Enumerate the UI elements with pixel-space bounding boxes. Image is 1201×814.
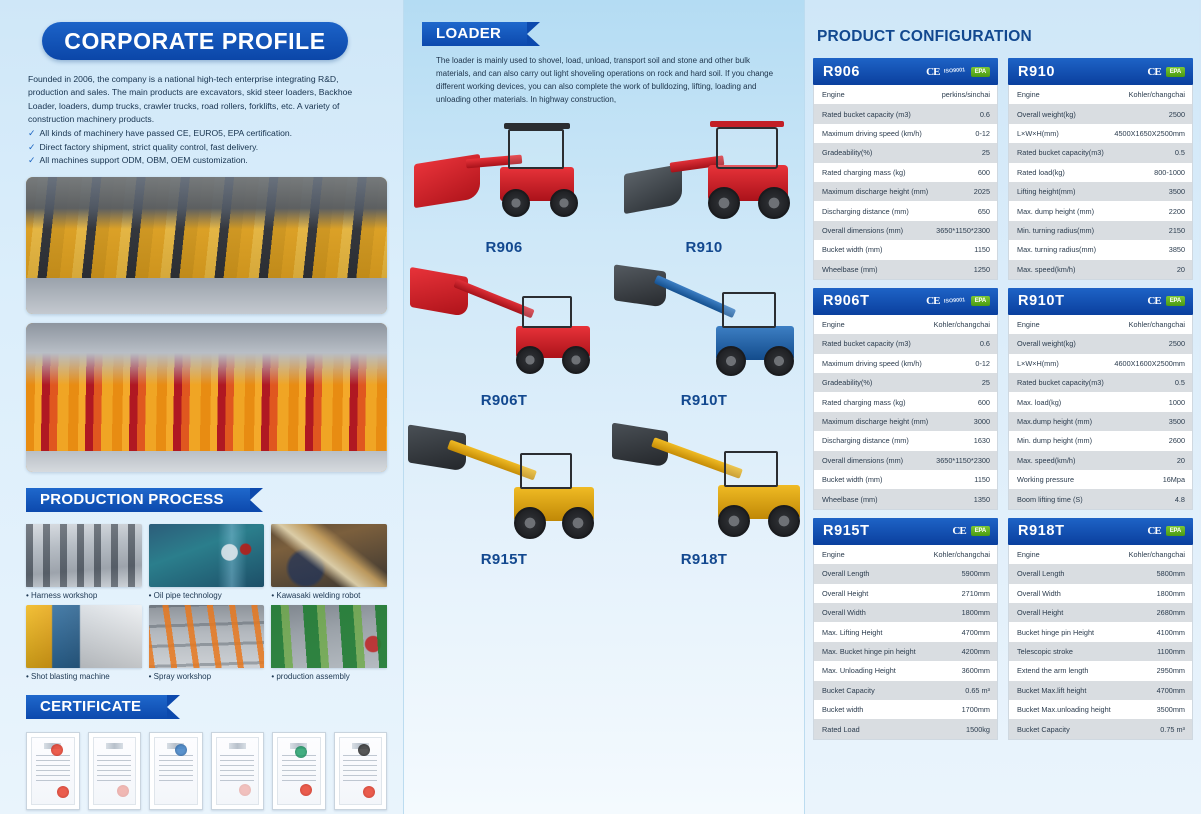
spec-row: Max. Bucket hinge pin height4200mm: [814, 642, 997, 661]
shot-blasting-machine-photo: [26, 605, 142, 668]
spec-rows: EngineKohler/changchaiOverall Length5900…: [813, 545, 998, 740]
production-item: • Harness workshop: [26, 524, 142, 600]
spec-key: Lifting height(mm): [1017, 187, 1075, 196]
loader-description: The loader is mainly used to shovel, loa…: [436, 55, 782, 107]
spec-row: Overall Height2710mm: [814, 584, 997, 603]
production-item: • Oil pipe technology: [149, 524, 265, 600]
spec-key: Max. Unloading Height: [822, 666, 896, 675]
spec-card-r910: R910CEEPAEngineKohler/changchaiOverall w…: [1008, 58, 1193, 280]
production-item: • Kawasaki welding robot: [271, 524, 387, 600]
loader-heading: LOADER: [422, 22, 804, 46]
spec-value: 3600mm: [962, 666, 990, 675]
spec-key: Max. Bucket hinge pin height: [822, 647, 916, 656]
spec-key: Maximum discharge height (mm): [822, 417, 928, 426]
spec-value: 1500kg: [966, 725, 990, 734]
spec-value: 2710mm: [962, 589, 990, 598]
spec-key: Overall dimensions (mm): [822, 226, 903, 235]
spec-value: 2950mm: [1157, 666, 1185, 675]
production-item: • Spray workshop: [149, 605, 265, 681]
spec-row: Bucket Max.lift height4700mm: [1009, 681, 1192, 700]
spec-value: Kohler/changchai: [934, 320, 990, 329]
spec-key: Max.dump height (mm): [1017, 417, 1092, 426]
spec-key: Engine: [1017, 320, 1040, 329]
spec-value: 2150: [1169, 226, 1185, 235]
spec-row: Overall Width1800mm: [814, 603, 997, 622]
spec-row: Rated bucket capacity (m3)0.6: [814, 334, 997, 353]
certification-badges: CEEPA: [1147, 295, 1185, 307]
certificate-thumb: [88, 732, 142, 810]
certificate-label: CERTIFICATE: [26, 695, 167, 719]
spec-row: L×W×H(mm)4600X1600X2500mm: [1009, 354, 1192, 373]
right-column: PRODUCT CONFIGURATION R906CEISO9001EPAEn…: [805, 0, 1199, 814]
spec-value: 0.75 m³: [1160, 725, 1185, 734]
epa-badge-icon: EPA: [971, 296, 990, 306]
spec-key: Rated bucket capacity (m3): [822, 339, 911, 348]
certification-badges: CEEPA: [1147, 66, 1185, 78]
profile-bullet: ✓ All kinds of machinery have passed CE,…: [28, 127, 381, 141]
spec-rows: Engineperkins/sinchaiRated bucket capaci…: [813, 85, 998, 280]
spec-card-r906: R906CEISO9001EPAEngineperkins/sinchaiRat…: [813, 58, 998, 280]
spec-value: 2200: [1169, 207, 1185, 216]
production-item-label: • Spray workshop: [149, 672, 265, 681]
spec-key: Gradeability(%): [822, 378, 872, 387]
spec-key: Overall weight(kg): [1017, 339, 1076, 348]
spec-key: Overall Width: [822, 608, 866, 617]
spec-value: 5900mm: [962, 569, 990, 578]
certification-badges: CEISO9001EPA: [926, 66, 990, 78]
ce-mark-icon: CE: [1147, 295, 1160, 307]
spec-value: 4500X1650X2500mm: [1114, 129, 1185, 138]
spec-key: Telescopic stroke: [1017, 647, 1073, 656]
spec-card-header: R910TCEEPA: [1008, 288, 1193, 315]
spec-value: 0.5: [1175, 378, 1185, 387]
spec-value: 20: [1177, 456, 1185, 465]
middle-column: LOADER The loader is mainly used to shov…: [403, 0, 805, 814]
spec-row: Wheelbase (mm)1350: [814, 489, 997, 508]
spec-row: Rated bucket capacity(m3)0.5: [1009, 143, 1192, 162]
profile-bullet-label: Direct factory shipment, strict quality …: [40, 141, 259, 154]
spec-value: 1800mm: [1157, 589, 1185, 598]
production-item-label: • Shot blasting machine: [26, 672, 142, 681]
spec-rows: EngineKohler/changchaiOverall Length5800…: [1008, 545, 1193, 740]
production-item: • production assembly: [271, 605, 387, 681]
production-item-label: • Kawasaki welding robot: [271, 591, 387, 600]
spec-value: 3500: [1169, 417, 1185, 426]
spec-value: 2600: [1169, 436, 1185, 445]
spec-value: 1150: [974, 475, 990, 484]
spec-row: Gradeability(%)25: [814, 373, 997, 392]
spec-key: Overall Length: [822, 569, 869, 578]
loader-illustration: [404, 113, 604, 239]
ce-mark-icon: CE: [926, 295, 939, 307]
spec-value: 5800mm: [1157, 569, 1185, 578]
spec-value: 0.5: [1175, 148, 1185, 157]
spec-card-header: R918TCEEPA: [1008, 518, 1193, 545]
certificate-heading: CERTIFICATE: [26, 695, 403, 719]
spec-row: Rated bucket capacity(m3)0.5: [1009, 373, 1192, 392]
check-icon: ✓: [28, 127, 36, 141]
spec-row: Boom lifting time (S)4.8: [1009, 489, 1192, 508]
spec-key: Max. Lifting Height: [822, 628, 882, 637]
spec-row: Maximum driving speed (km/h)0-12: [814, 124, 997, 143]
machine-name: R918T: [604, 551, 804, 568]
machine-card-r915t: R915T: [404, 425, 604, 568]
spec-row: Max. load(kg)1000: [1009, 392, 1192, 411]
spec-value: 16Mpa: [1163, 475, 1185, 484]
ce-mark-icon: CE: [1147, 525, 1160, 537]
certificate-thumb: [334, 732, 388, 810]
spec-row: Max. speed(km/h)20: [1009, 260, 1192, 279]
spec-row: Bucket hinge pin Height4100mm: [1009, 622, 1192, 641]
profile-paragraph: Founded in 2006, the company is a nation…: [28, 73, 381, 126]
spec-key: L×W×H(mm): [1017, 129, 1059, 138]
spec-row: EngineKohler/changchai: [814, 315, 997, 334]
spec-key: Bucket Max.lift height: [1017, 686, 1086, 695]
spec-row: Overall Length5900mm: [814, 564, 997, 583]
spec-row: Max. turning radius(mm)3850: [1009, 240, 1192, 259]
machine-name: R906T: [404, 392, 604, 409]
certificate-thumb: [272, 732, 326, 810]
spec-model-name: R915T: [823, 523, 870, 539]
spec-model-name: R910: [1018, 64, 1055, 80]
spec-value: Kohler/changchai: [1129, 320, 1185, 329]
spec-key: Min. turning radius(mm): [1017, 226, 1094, 235]
spec-value: 0.6: [980, 110, 990, 119]
machine-card-r906t: R906T: [404, 266, 604, 409]
check-icon: ✓: [28, 141, 36, 155]
spec-rows: EngineKohler/changchaiRated bucket capac…: [813, 315, 998, 510]
spec-value: 3000: [974, 417, 990, 426]
machine-row: R915T R918T: [404, 425, 804, 568]
spec-key: Overall dimensions (mm): [822, 456, 903, 465]
spec-key: Overall Width: [1017, 589, 1061, 598]
spec-row: Max.dump height (mm)3500: [1009, 412, 1192, 431]
spec-key: Discharging distance (mm): [822, 436, 909, 445]
spec-key: Max. speed(km/h): [1017, 456, 1075, 465]
spec-value: 1150: [974, 245, 990, 254]
brochure-page: CORPORATE PROFILE Founded in 2006, the c…: [0, 0, 1201, 814]
spec-row: Rated charging mass (kg)600: [814, 163, 997, 182]
epa-badge-icon: EPA: [971, 67, 990, 77]
spec-row: Min. dump height (mm)2600: [1009, 431, 1192, 450]
spec-value: 1250: [974, 265, 990, 274]
certification-badges: CEISO9001EPA: [926, 295, 990, 307]
spec-row: Maximum discharge height (mm)3000: [814, 412, 997, 431]
spec-key: Rated bucket capacity(m3): [1017, 378, 1104, 387]
spec-card-header: R915TCEEPA: [813, 518, 998, 545]
spec-value: 3500mm: [1157, 705, 1185, 714]
machine-card-r906: R906: [404, 113, 604, 256]
spec-row: Engineperkins/sinchai: [814, 85, 997, 104]
spec-value: 0-12: [975, 129, 990, 138]
spec-row: Bucket Capacity0.65 m³: [814, 681, 997, 700]
spec-key: Bucket Max.unloading height: [1017, 705, 1111, 714]
kawasaki-welding-robot-photo: [271, 524, 387, 587]
spec-value: 1700mm: [962, 705, 990, 714]
certificate-thumb: [149, 732, 203, 810]
spec-row: Rated load(kg)800-1000: [1009, 163, 1192, 182]
spec-key: Bucket width (mm): [822, 475, 882, 484]
ce-mark-icon: CE: [1147, 66, 1160, 78]
loader-illustration: [604, 113, 804, 239]
spec-row: Max. Unloading Height3600mm: [814, 661, 997, 680]
spec-value: 2500: [1169, 339, 1185, 348]
loader-illustration: [604, 266, 804, 392]
spec-model-name: R910T: [1018, 293, 1065, 309]
spec-value: 3500: [1169, 187, 1185, 196]
spray-workshop-photo: [149, 605, 265, 668]
spec-key: Rated bucket capacity (m3): [822, 110, 911, 119]
spec-row: Overall Width1800mm: [1009, 584, 1192, 603]
spec-key: Overall Height: [822, 589, 868, 598]
factory-photo-assembly-line: [26, 177, 387, 314]
spec-row: Extend the arm length2950mm: [1009, 661, 1192, 680]
spec-key: Wheelbase (mm): [822, 265, 878, 274]
spec-key: Engine: [1017, 550, 1040, 559]
spec-row: L×W×H(mm)4500X1650X2500mm: [1009, 124, 1192, 143]
epa-badge-icon: EPA: [1166, 526, 1185, 536]
spec-row: Bucket width (mm)1150: [814, 470, 997, 489]
production-process-label: PRODUCTION PROCESS: [26, 488, 250, 512]
spec-key: Rated charging mass (kg): [822, 168, 906, 177]
spec-card-r918t: R918TCEEPAEngineKohler/changchaiOverall …: [1008, 518, 1193, 740]
loader-label: LOADER: [422, 22, 527, 46]
spec-row: Bucket Capacity0.75 m³: [1009, 719, 1192, 738]
spec-row: Gradeability(%)25: [814, 143, 997, 162]
harness-workshop-photo: [26, 524, 142, 587]
spec-value: perkins/sinchai: [942, 90, 990, 99]
spec-row: Rated bucket capacity (m3)0.6: [814, 104, 997, 123]
spec-row: Discharging distance (mm)650: [814, 201, 997, 220]
spec-value: 1800mm: [962, 608, 990, 617]
spec-value: 600: [978, 398, 990, 407]
spec-row: EngineKohler/changchai: [1009, 315, 1192, 334]
spec-key: Bucket width: [822, 705, 863, 714]
spec-key: Engine: [822, 320, 845, 329]
spec-row: Overall weight(kg)2500: [1009, 104, 1192, 123]
spec-row: Min. turning radius(mm)2150: [1009, 221, 1192, 240]
spec-key: Min. dump height (mm): [1017, 436, 1092, 445]
profile-bullet-label: All kinds of machinery have passed CE, E…: [40, 127, 293, 140]
spec-key: Working pressure: [1017, 475, 1074, 484]
spec-row: Discharging distance (mm)1630: [814, 431, 997, 450]
ce-mark-icon: CE: [952, 525, 965, 537]
spec-key: Maximum driving speed (km/h): [822, 359, 922, 368]
spec-key: Max. turning radius(mm): [1017, 245, 1096, 254]
spec-row: Telescopic stroke1100mm: [1009, 642, 1192, 661]
spec-key: Engine: [822, 550, 845, 559]
spec-value: 2025: [974, 187, 990, 196]
spec-key: Maximum discharge height (mm): [822, 187, 928, 196]
spec-row: EngineKohler/changchai: [814, 545, 997, 564]
loader-illustration: [404, 266, 604, 392]
spec-key: Bucket Capacity: [1017, 725, 1070, 734]
machine-name: R910: [604, 239, 804, 256]
spec-row: Maximum driving speed (km/h)0-12: [814, 354, 997, 373]
spec-row: Max. Lifting Height4700mm: [814, 622, 997, 641]
spec-model-name: R906T: [823, 293, 870, 309]
spec-row: Max. dump height (mm)2200: [1009, 201, 1192, 220]
spec-model-name: R918T: [1018, 523, 1065, 539]
production-assembly-photo: [271, 605, 387, 668]
spec-key: Boom lifting time (S): [1017, 495, 1083, 504]
spec-row: Max. speed(km/h)20: [1009, 451, 1192, 470]
spec-value: 2500: [1169, 110, 1185, 119]
spec-key: Overall weight(kg): [1017, 110, 1076, 119]
certification-badges: CEEPA: [1147, 525, 1185, 537]
iso-mark-icon: ISO9001: [944, 68, 966, 75]
epa-badge-icon: EPA: [1166, 296, 1185, 306]
spec-value: 4100mm: [1157, 628, 1185, 637]
profile-bullet-label: All machines support ODM, OBM, OEM custo…: [40, 154, 248, 167]
spec-value: 3850: [1169, 245, 1185, 254]
spec-key: Max. load(kg): [1017, 398, 1061, 407]
spec-card-r915t: R915TCEEPAEngineKohler/changchaiOverall …: [813, 518, 998, 740]
spec-rows: EngineKohler/changchaiOverall weight(kg)…: [1008, 85, 1193, 280]
spec-value: 25: [982, 148, 990, 157]
spec-key: Rated Load: [822, 725, 860, 734]
spec-value: 3650*1150*2300: [936, 456, 990, 465]
spec-key: Extend the arm length: [1017, 666, 1088, 675]
production-item-label: • Oil pipe technology: [149, 591, 265, 600]
profile-bullet: ✓ All machines support ODM, OBM, OEM cus…: [28, 154, 381, 168]
certificate-gallery: [26, 732, 387, 810]
spec-row: Bucket width1700mm: [814, 700, 997, 719]
spec-row: Overall dimensions (mm)3650*1150*2300: [814, 451, 997, 470]
spec-value: 800-1000: [1154, 168, 1185, 177]
spec-card-r910t: R910TCEEPAEngineKohler/changchaiOverall …: [1008, 288, 1193, 510]
left-column: CORPORATE PROFILE Founded in 2006, the c…: [0, 0, 403, 814]
machine-card-r910t: R910T: [604, 266, 804, 409]
spec-value: 0.6: [980, 339, 990, 348]
spec-value: 4.8: [1175, 495, 1185, 504]
spec-value: Kohler/changchai: [934, 550, 990, 559]
spec-value: 2680mm: [1157, 608, 1185, 617]
spec-rows: EngineKohler/changchaiOverall weight(kg)…: [1008, 315, 1193, 510]
production-item: • Shot blasting machine: [26, 605, 142, 681]
spec-value: 4700mm: [1157, 686, 1185, 695]
spec-row: Lifting height(mm)3500: [1009, 182, 1192, 201]
spec-value: Kohler/changchai: [1129, 550, 1185, 559]
spec-value: 650: [978, 207, 990, 216]
certificate-thumb: [26, 732, 80, 810]
spec-key: Max. speed(km/h): [1017, 265, 1075, 274]
production-item-label: • Harness workshop: [26, 591, 142, 600]
profile-bullet: ✓ Direct factory shipment, strict qualit…: [28, 141, 381, 155]
ce-mark-icon: CE: [926, 66, 939, 78]
machine-row: R906T R910T: [404, 266, 804, 409]
spec-value: 4200mm: [962, 647, 990, 656]
spec-row: Overall dimensions (mm)3650*1150*2300: [814, 221, 997, 240]
spec-key: Bucket width (mm): [822, 245, 882, 254]
spec-key: Overall Length: [1017, 569, 1064, 578]
spec-key: Bucket Capacity: [822, 686, 875, 695]
company-profile-text: Founded in 2006, the company is a nation…: [28, 73, 381, 168]
spec-model-name: R906: [823, 64, 860, 80]
spec-value: 1350: [974, 495, 990, 504]
machine-card-r910: R910: [604, 113, 804, 256]
iso-mark-icon: ISO9001: [944, 298, 966, 305]
spec-key: Max. dump height (mm): [1017, 207, 1094, 216]
spec-key: Wheelbase (mm): [822, 495, 878, 504]
product-configuration-title: PRODUCT CONFIGURATION: [817, 28, 1199, 46]
oil-pipe-technology-photo: [149, 524, 265, 587]
production-item-label: • production assembly: [271, 672, 387, 681]
spec-value: 3650*1150*2300: [936, 226, 990, 235]
spec-row: Rated charging mass (kg)600: [814, 392, 997, 411]
spec-card-r906t: R906TCEISO9001EPAEngineKohler/changchaiR…: [813, 288, 998, 510]
spec-row: Bucket Max.unloading height3500mm: [1009, 700, 1192, 719]
check-icon: ✓: [28, 154, 36, 168]
spec-row: Bucket width (mm)1150: [814, 240, 997, 259]
spec-row: Maximum discharge height (mm)2025: [814, 182, 997, 201]
spec-value: 20: [1177, 265, 1185, 274]
spec-value: 25: [982, 378, 990, 387]
machine-name: R906: [404, 239, 604, 256]
spec-key: Engine: [822, 90, 845, 99]
machine-gallery: R906 R910: [404, 113, 804, 568]
spec-key: Engine: [1017, 90, 1040, 99]
spec-value: 0.65 m³: [965, 686, 990, 695]
spec-table-grid: R906CEISO9001EPAEngineperkins/sinchaiRat…: [813, 58, 1193, 740]
machine-name: R915T: [404, 551, 604, 568]
machine-name: R910T: [604, 392, 804, 409]
spec-row: Working pressure16Mpa: [1009, 470, 1192, 489]
production-process-heading: PRODUCTION PROCESS: [26, 488, 403, 512]
epa-badge-icon: EPA: [971, 526, 990, 536]
spec-card-header: R910CEEPA: [1008, 58, 1193, 85]
spec-value: Kohler/changchai: [1129, 90, 1185, 99]
spec-row: EngineKohler/changchai: [1009, 85, 1192, 104]
spec-key: Discharging distance (mm): [822, 207, 909, 216]
epa-badge-icon: EPA: [1166, 67, 1185, 77]
spec-key: Rated charging mass (kg): [822, 398, 906, 407]
spec-row: Overall weight(kg)2500: [1009, 334, 1192, 353]
spec-value: 1100mm: [1157, 647, 1185, 656]
spec-row: EngineKohler/changchai: [1009, 545, 1192, 564]
spec-row: Wheelbase (mm)1250: [814, 260, 997, 279]
spec-key: Overall Height: [1017, 608, 1063, 617]
spec-value: 4600X1600X2500mm: [1114, 359, 1185, 368]
factory-photo-booms: [26, 323, 387, 472]
spec-value: 0-12: [975, 359, 990, 368]
spec-key: Gradeability(%): [822, 148, 872, 157]
spec-value: 1000: [1169, 398, 1185, 407]
spec-row: Overall Height2680mm: [1009, 603, 1192, 622]
spec-card-header: R906CEISO9001EPA: [813, 58, 998, 85]
machine-row: R906 R910: [404, 113, 804, 256]
spec-value: 1630: [974, 436, 990, 445]
certification-badges: CEEPA: [952, 525, 990, 537]
production-process-grid: • Harness workshop • Oil pipe technology…: [26, 524, 387, 681]
spec-row: Rated Load1500kg: [814, 719, 997, 738]
spec-key: L×W×H(mm): [1017, 359, 1059, 368]
certificate-thumb: [211, 732, 265, 810]
loader-illustration: [604, 425, 804, 551]
spec-row: Overall Length5800mm: [1009, 564, 1192, 583]
machine-card-r918t: R918T: [604, 425, 804, 568]
spec-value: 600: [978, 168, 990, 177]
page-title: CORPORATE PROFILE: [42, 22, 348, 60]
loader-illustration: [404, 425, 604, 551]
spec-card-header: R906TCEISO9001EPA: [813, 288, 998, 315]
spec-key: Rated load(kg): [1017, 168, 1065, 177]
spec-key: Maximum driving speed (km/h): [822, 129, 922, 138]
spec-value: 4700mm: [962, 628, 990, 637]
spec-key: Rated bucket capacity(m3): [1017, 148, 1104, 157]
spec-key: Bucket hinge pin Height: [1017, 628, 1094, 637]
